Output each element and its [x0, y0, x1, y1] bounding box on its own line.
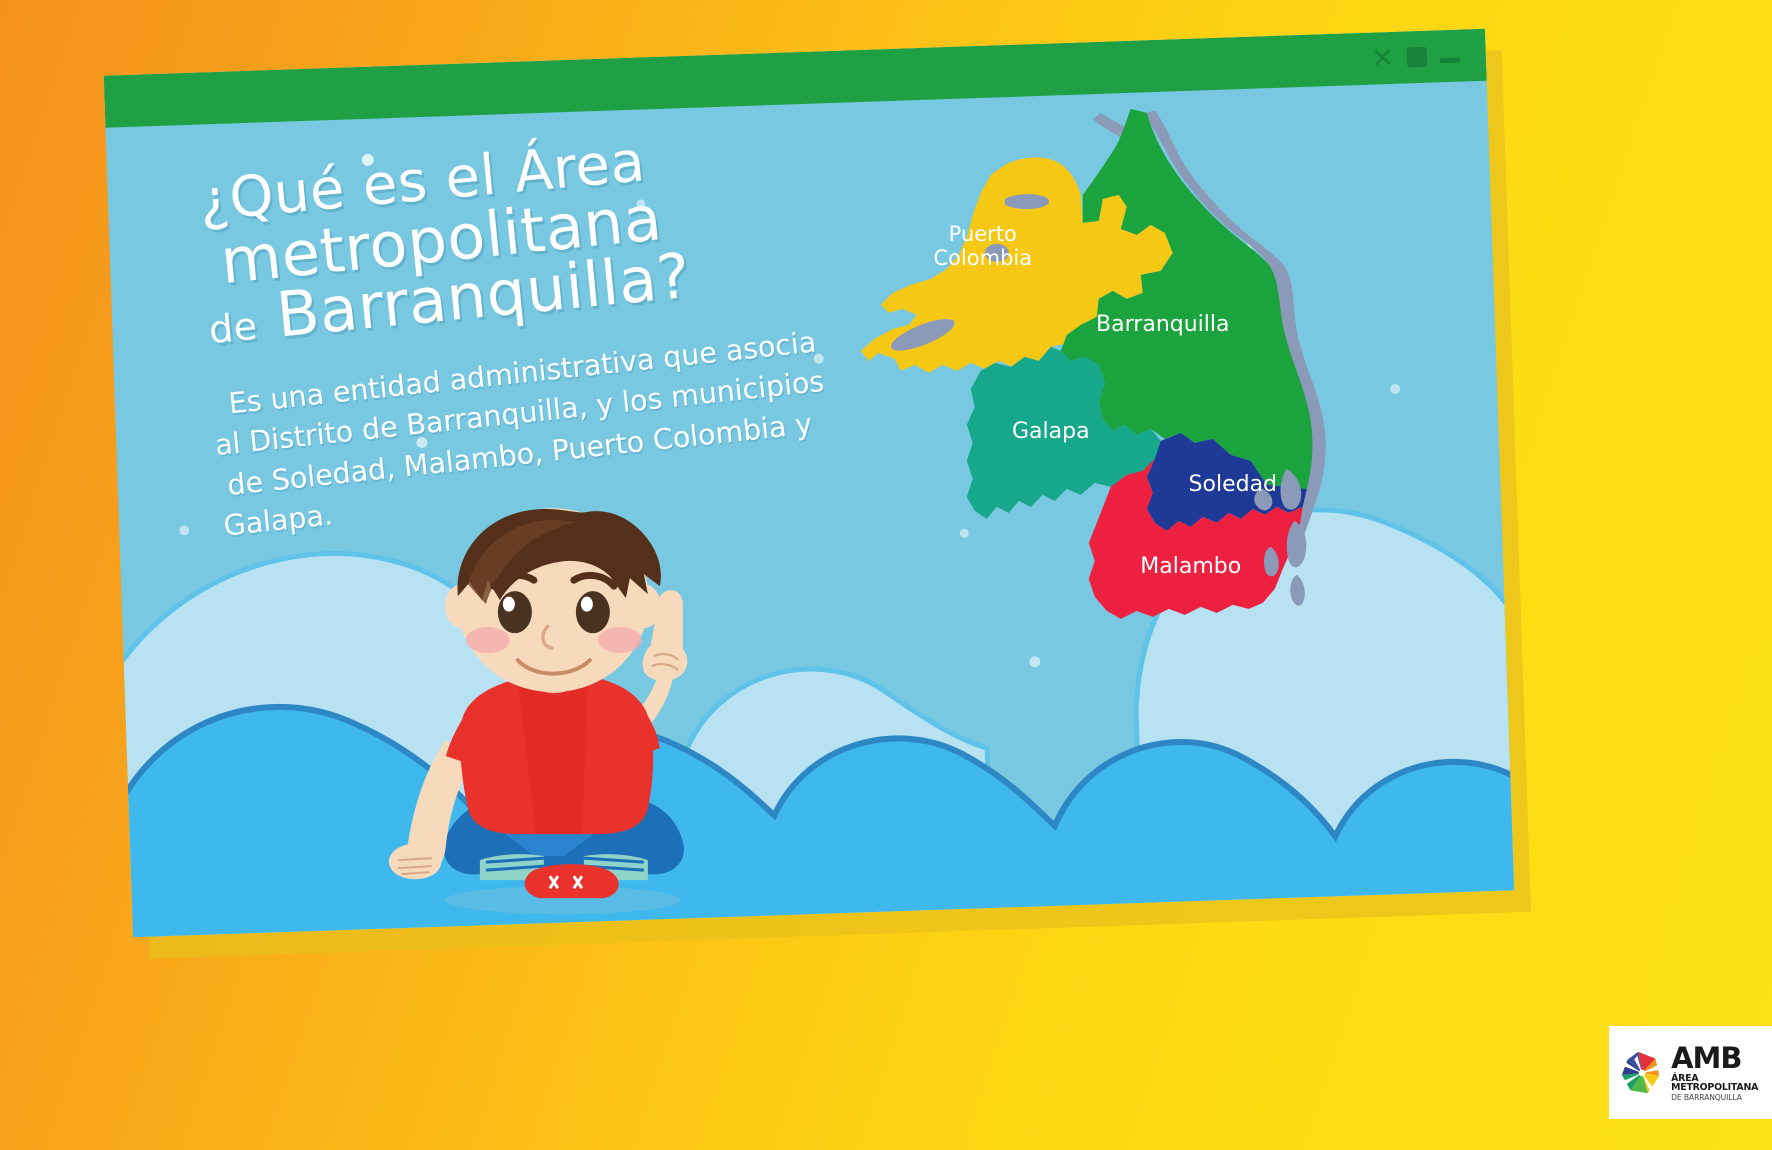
- eye-right-highlight: [581, 597, 593, 612]
- infographic-canvas: ✕: [0, 0, 1772, 1150]
- eye-right: [576, 591, 610, 633]
- metropolitan-area-map: Puerto Colombia Barranquilla Galapa Sole…: [855, 103, 1415, 663]
- boy-illustration: [358, 508, 788, 928]
- logo-line-2: ÁREA METROPOLITANA: [1671, 1074, 1772, 1093]
- map-label-barranquilla: Barranquilla: [1096, 312, 1229, 337]
- shoes: [525, 864, 619, 898]
- title-line-3-prefix: de: [207, 304, 260, 352]
- amb-pinwheel-icon: [1618, 1045, 1666, 1101]
- window-content: ¿Qué es el Área metropolitana de Barranq…: [106, 81, 1515, 938]
- cheek-left: [466, 627, 510, 653]
- cheek-right: [598, 627, 642, 653]
- map-label-galapa: Galapa: [1012, 419, 1090, 444]
- eye-left-highlight: [503, 597, 515, 612]
- map-label-puerto-colombia-line1: Puerto: [949, 222, 1017, 246]
- amb-logo-text: AMB ÁREA METROPOLITANA DE BARRANQUILLA: [1671, 1044, 1772, 1101]
- window-controls: ✕: [1371, 38, 1461, 77]
- eye-left: [498, 591, 532, 633]
- logo-line-3: DE BARRANQUILLA: [1671, 1094, 1772, 1102]
- window-card: ✕: [104, 29, 1515, 938]
- logo-acronym: AMB: [1671, 1044, 1772, 1073]
- text-block: ¿Qué es el Área metropolitana de Barranq…: [173, 111, 943, 544]
- window-body: ✕: [104, 29, 1515, 938]
- map-label-soledad: Soledad: [1189, 472, 1277, 497]
- lagoon-north: [1005, 194, 1049, 209]
- maximize-icon[interactable]: [1407, 47, 1428, 68]
- amb-logo: AMB ÁREA METROPOLITANA DE BARRANQUILLA: [1609, 1026, 1772, 1119]
- map-label-puerto-colombia-line2: Colombia: [933, 246, 1032, 270]
- minimize-icon[interactable]: [1440, 57, 1460, 63]
- map-label-malambo: Malambo: [1140, 554, 1241, 579]
- close-icon[interactable]: ✕: [1371, 44, 1395, 72]
